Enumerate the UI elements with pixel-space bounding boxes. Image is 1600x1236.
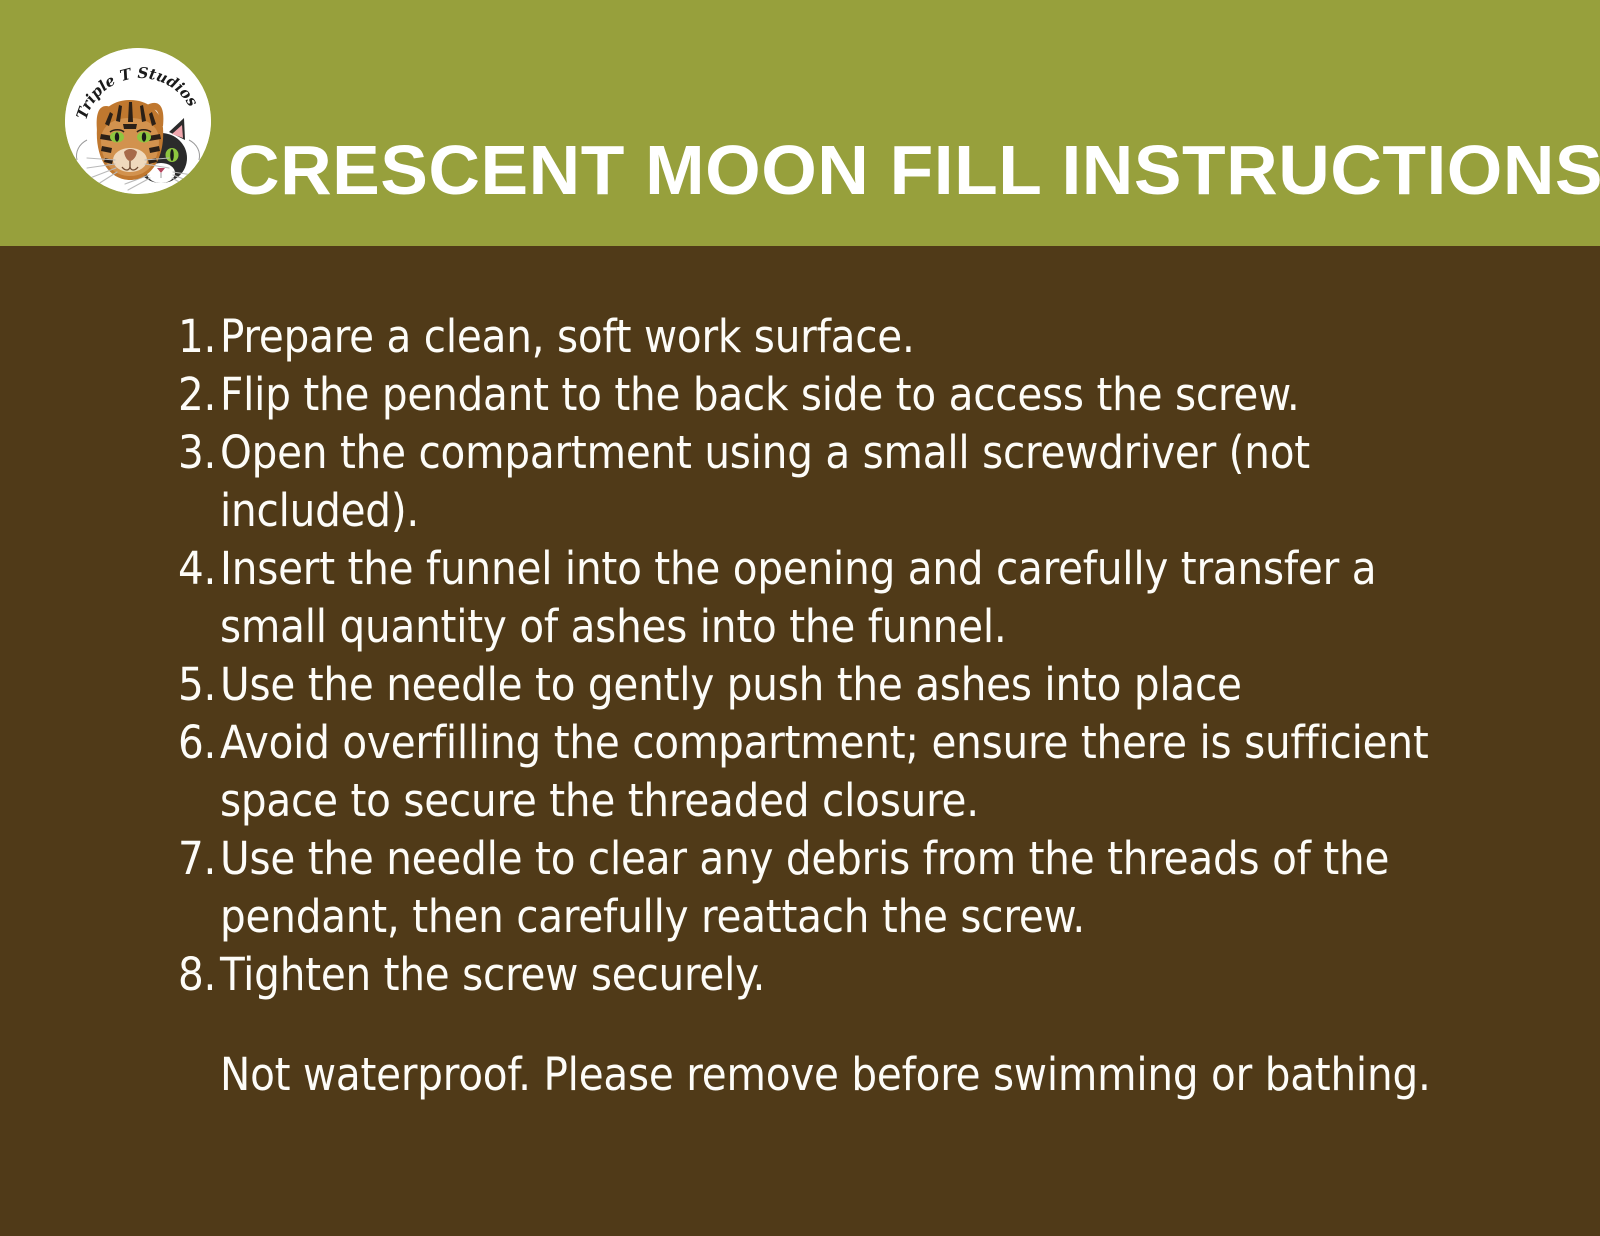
waterproof-disclaimer: Not waterproof. Please remove before swi… [220,1046,1480,1104]
step-number: 8. [178,946,220,1004]
list-item: 7. Use the needle to clear any debris fr… [178,830,1478,946]
list-item: 1. Prepare a clean, soft work surface. [178,308,1478,366]
step-number: 1. [178,308,220,366]
steps-list: 1. Prepare a clean, soft work surface. 2… [178,308,1478,1004]
step-text: Avoid overfilling the compartment; ensur… [220,714,1478,830]
brand-logo: Triple T Studios [65,48,211,194]
instruction-card: Triple T Studios [0,0,1600,1236]
step-text: Flip the pendant to the back side to acc… [220,366,1478,424]
list-item: 6. Avoid overfilling the compartment; en… [178,714,1478,830]
logo-badge: Triple T Studios [65,48,211,194]
step-text: Insert the funnel into the opening and c… [220,540,1478,656]
list-item: 3. Open the compartment using a small sc… [178,424,1478,540]
step-number: 3. [178,424,220,482]
list-item: 4. Insert the funnel into the opening an… [178,540,1478,656]
step-text: Use the needle to gently push the ashes … [220,656,1478,714]
instructions-body: 1. Prepare a clean, soft work surface. 2… [0,246,1600,1236]
list-item: 8. Tighten the screw securely. [178,946,1478,1004]
page-header: Triple T Studios [0,0,1600,246]
step-number: 5. [178,656,220,714]
step-text: Tighten the screw securely. [220,946,1478,1004]
triple-t-studios-logo-icon: Triple T Studios [65,48,211,194]
list-item: 2. Flip the pendant to the back side to … [178,366,1478,424]
step-number: 4. [178,540,220,598]
step-number: 2. [178,366,220,424]
step-text: Prepare a clean, soft work surface. [220,308,1478,366]
step-text: Use the needle to clear any debris from … [220,830,1478,946]
list-item: 5. Use the needle to gently push the ash… [178,656,1478,714]
step-number: 7. [178,830,220,888]
step-number: 6. [178,714,220,772]
step-text: Open the compartment using a small screw… [220,424,1478,540]
